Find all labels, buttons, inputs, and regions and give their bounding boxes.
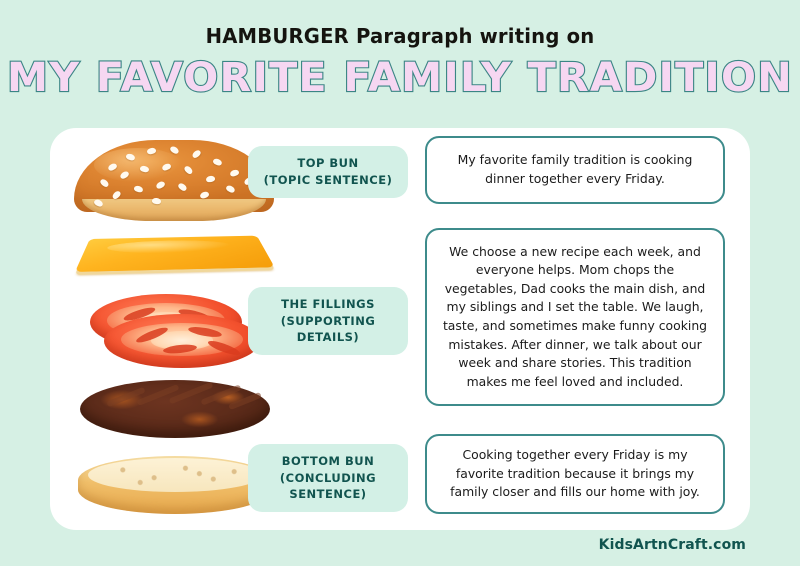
textbox-supporting-details: We choose a new recipe each week, and ev… xyxy=(425,228,725,406)
topic-sentence-text: My favorite family tradition is cooking … xyxy=(441,151,709,188)
page-title: MY FAVORITE FAMILY TRADITION xyxy=(0,58,800,98)
label-fillings-line1: THE FILLINGS xyxy=(281,296,376,313)
site-watermark: KidsArtnCraft.com xyxy=(599,537,746,553)
label-bottom-bun-line3: SENTENCE) xyxy=(280,486,376,503)
patty-shape xyxy=(80,380,270,438)
textbox-topic-sentence: My favorite family tradition is cooking … xyxy=(425,136,725,204)
supporting-details-text: We choose a new recipe each week, and ev… xyxy=(441,243,709,392)
bun-crumb-surface xyxy=(88,458,262,492)
cheese-slice-icon xyxy=(64,214,286,290)
label-top-bun-line2: (TOPIC SENTENCE) xyxy=(264,172,393,189)
label-top-bun-line1: TOP BUN xyxy=(264,155,393,172)
label-fillings-line3: DETAILS) xyxy=(281,329,376,346)
label-top-bun: TOP BUN (TOPIC SENTENCE) xyxy=(248,146,408,198)
label-fillings: THE FILLINGS (SUPPORTING DETAILS) xyxy=(248,287,408,355)
label-bottom-bun: BOTTOM BUN (CONCLUDING SENTENCE) xyxy=(248,444,408,512)
beef-patty-icon xyxy=(64,364,286,450)
textbox-concluding-sentence: Cooking together every Friday is my favo… xyxy=(425,434,725,514)
label-fillings-line2: (SUPPORTING xyxy=(281,313,376,330)
tomato-slice-front xyxy=(104,314,260,368)
label-bottom-bun-line1: BOTTOM BUN xyxy=(280,453,376,470)
concluding-sentence-text: Cooking together every Friday is my favo… xyxy=(441,446,709,502)
page-header: HAMBURGER Paragraph writing on MY FAVORI… xyxy=(0,0,800,98)
cheese-shape xyxy=(75,236,275,272)
page-subtitle: HAMBURGER Paragraph writing on xyxy=(8,26,792,46)
content-card: TOP BUN (TOPIC SENTENCE) THE FILLINGS (S… xyxy=(50,128,750,530)
label-bottom-bun-line2: (CONCLUDING xyxy=(280,470,376,487)
